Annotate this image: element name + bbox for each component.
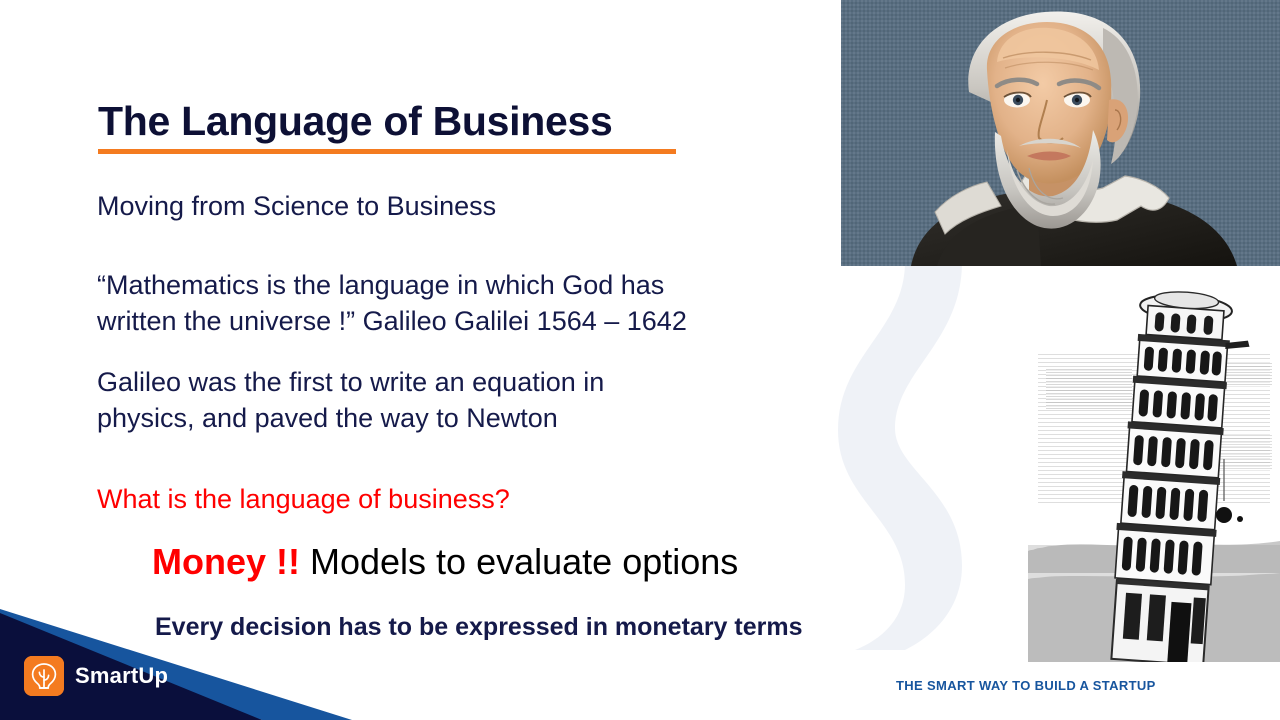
- slide-canvas: The Language of Business Moving from Sci…: [0, 0, 1280, 720]
- galileo-quote: “Mathematics is the language in which Go…: [97, 267, 687, 339]
- galileo-portrait-image: [841, 0, 1280, 266]
- money-highlight-text: Money !!: [152, 541, 300, 582]
- leaning-tower-of-pisa-image: [1028, 283, 1280, 662]
- title-underline-rule: [98, 149, 676, 154]
- models-text: Models to evaluate options: [300, 541, 738, 582]
- lightbulb-tree-icon: [24, 656, 64, 696]
- question-paragraph: What is the language of business?: [97, 481, 510, 517]
- money-answer-line: Money !! Models to evaluate options: [152, 541, 738, 583]
- smartup-logo[interactable]: SmartUp: [24, 656, 168, 696]
- lead-paragraph: Moving from Science to Business: [97, 188, 496, 224]
- slide-title: The Language of Business: [98, 98, 613, 145]
- brand-tagline: THE SMART WAY TO BUILD A STARTUP: [896, 678, 1156, 693]
- logo-wordmark: SmartUp: [75, 663, 168, 689]
- galileo-note-paragraph: Galileo was the first to write an equati…: [97, 364, 604, 436]
